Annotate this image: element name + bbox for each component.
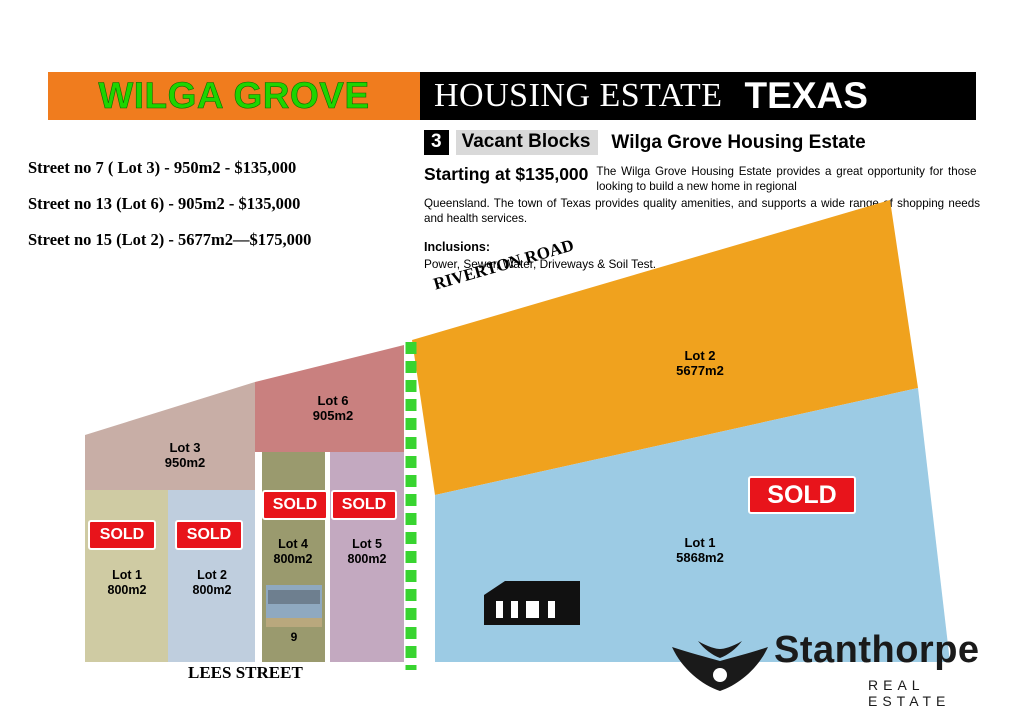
- starting-price: Starting at $135,000: [424, 164, 588, 185]
- poster-root: WILGA GROVE HOUSING ESTATE TEXAS Street …: [0, 0, 1024, 723]
- banner-black-block: HOUSING ESTATE TEXAS: [420, 72, 976, 120]
- sold-badge-lot-4: SOLD: [262, 490, 328, 520]
- title-banner: WILGA GROVE HOUSING ESTATE TEXAS: [48, 72, 976, 120]
- road-label-lees-street: LEES STREET: [188, 663, 303, 683]
- parcel-lot-6-shape[interactable]: [255, 345, 404, 452]
- sold-badge-lot-5: SOLD: [331, 490, 397, 520]
- lees-street-text: LEES STREET: [188, 663, 303, 682]
- house-photo-roof: [268, 590, 320, 604]
- parcel-lot-5-shape[interactable]: [330, 452, 404, 662]
- banner-estate-name: WILGA GROVE: [98, 75, 369, 117]
- vacant-blocks-label: Vacant Blocks: [456, 130, 599, 155]
- wings-logo-icon: [668, 631, 772, 697]
- price-list-item: Street no 7 ( Lot 3) - 950m2 - $135,000: [28, 158, 420, 178]
- banner-town: TEXAS: [745, 75, 868, 117]
- agency-tagline: REAL ESTATE: [868, 677, 1008, 709]
- banner-housing-estate: HOUSING ESTATE: [434, 77, 723, 115]
- vacant-count-badge: 3: [424, 130, 449, 155]
- sold-text: SOLD: [100, 526, 144, 543]
- house-photo-ground: [266, 618, 322, 627]
- sold-text: SOLD: [342, 496, 386, 513]
- agency-logo: Stanthorpe REAL ESTATE: [668, 625, 1008, 711]
- parcel-lot-1-left-shape[interactable]: [85, 490, 168, 662]
- sold-text: SOLD: [187, 526, 231, 543]
- info-headline: 3 Vacant Blocks Wilga Grove Housing Esta…: [424, 130, 1004, 155]
- sold-text: SOLD: [767, 481, 836, 509]
- sold-text: SOLD: [273, 496, 317, 513]
- sold-badge-lot-1-left: SOLD: [88, 520, 156, 550]
- parcel-lot-2-left-shape[interactable]: [168, 490, 255, 662]
- parcel-lot-4-shape[interactable]: [262, 452, 325, 662]
- sold-badge-lot-1-right: SOLD: [748, 476, 856, 514]
- sold-badge-lot-2-left: SOLD: [175, 520, 243, 550]
- estate-name-label: Wilga Grove Housing Estate: [611, 132, 865, 154]
- banner-estate-block: WILGA GROVE: [48, 72, 420, 120]
- house-silhouette-icon: [484, 581, 580, 625]
- agency-name: Stanthorpe: [774, 629, 980, 672]
